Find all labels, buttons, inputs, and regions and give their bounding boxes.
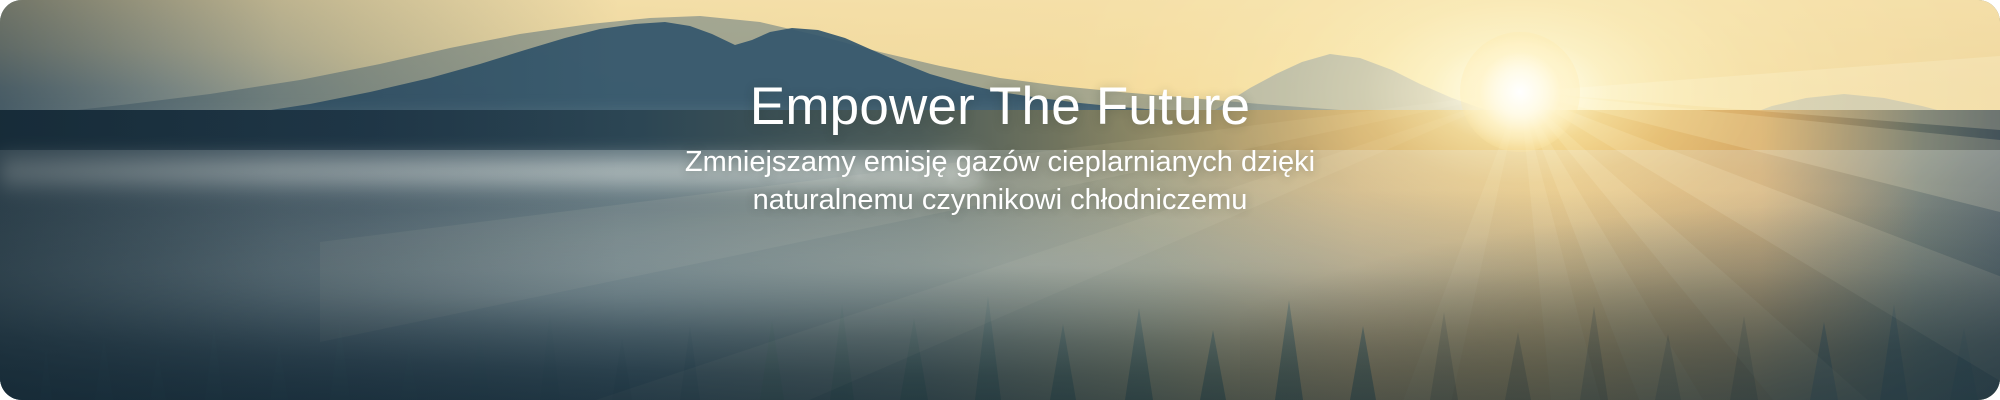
- hero-subtitle-line-1: Zmniejszamy emisję gazów cieplarnianych …: [685, 146, 1315, 178]
- hero-title: Empower The Future: [750, 78, 1250, 135]
- hero-banner: Empower The Future Zmniejszamy emisję ga…: [0, 0, 2000, 400]
- hero-subtitle-line-2: naturalnemu czynnikowi chłodniczemu: [685, 182, 1315, 220]
- hero-text-overlay: Empower The Future Zmniejszamy emisję ga…: [0, 0, 2000, 400]
- hero-subtitle: Zmniejszamy emisję gazów cieplarnianych …: [685, 144, 1315, 219]
